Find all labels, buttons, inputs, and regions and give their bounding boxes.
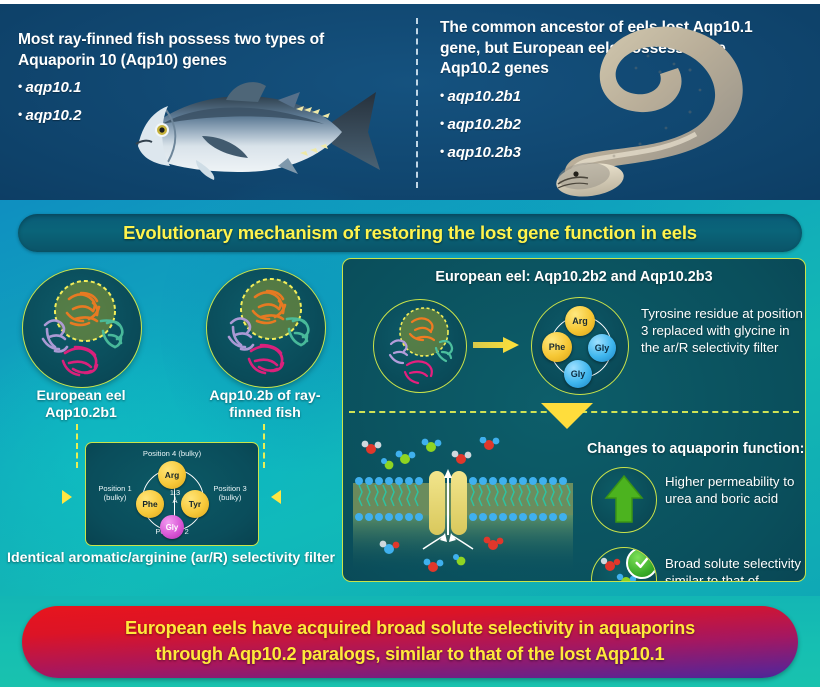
section-title-text: Evolutionary mechanism of restoring the …: [123, 222, 697, 244]
european-eel-illustration: [540, 12, 818, 200]
structure-caption-2: Aqp10.2b of ray-finned fish: [190, 388, 340, 422]
higher-permeability-icon-circle: [591, 467, 657, 533]
residue-arg: Arg: [565, 306, 595, 336]
infographic-figure: Most ray-finned fish possess two types o…: [0, 0, 820, 687]
residue-gly-position-2: Gly: [564, 360, 592, 388]
panel-a-heading: Most ray-finned fish possess two types o…: [18, 30, 398, 71]
aquaporin-tetramer-structure: [23, 269, 141, 387]
change-text-selectivity: Broad solute selectivity similar to that…: [665, 555, 805, 582]
green-up-arrow-icon: [592, 468, 656, 532]
residue-arg: Arg: [158, 461, 186, 489]
conclusion-line-2: through Aqp10.2 paralogs, similar to tha…: [156, 644, 665, 664]
green-check-icon: [626, 547, 657, 579]
conclusion-text: European eels have acquired broad solute…: [125, 616, 695, 668]
arrow-left-icon: [271, 490, 281, 504]
panel-divider: [416, 18, 418, 188]
residue-gly-position-3: Gly: [588, 334, 616, 362]
connector-dashed-line: [263, 424, 265, 468]
connector-dashed-line: [76, 424, 78, 468]
residue-phe: Phe: [542, 332, 572, 362]
distance-unit: Å: [173, 496, 178, 505]
check-glyph: [633, 554, 651, 572]
aquaporin-tetramer-structure: [207, 269, 325, 387]
structure-circle-eel-aqp102b1: [22, 268, 142, 388]
aquaporin-tetramer-structure: [374, 300, 466, 392]
residue-gly: Gly: [160, 515, 184, 539]
conclusion-line-1: European eels have acquired broad solute…: [125, 618, 695, 638]
tuna-fish-illustration: [118, 74, 383, 194]
position-3-label: Position 3 (bulky): [206, 485, 254, 502]
membrane-illustration: [353, 437, 573, 573]
position-4-label: Position 4 (bulky): [86, 450, 258, 459]
residue-phe: Phe: [136, 490, 164, 518]
structure-circle-rayfinned-aqp102b: [206, 268, 326, 388]
aquaporin-channel-in-lipid-bilayer: [353, 437, 573, 573]
top-band: Most ray-finned fish possess two types o…: [0, 4, 820, 200]
mutation-note: Tyrosine residue at position 3 replaced …: [641, 305, 803, 356]
eel-mechanism-box: European eel: Aqp10.2b2 and Aqp10.2b3: [342, 258, 806, 582]
structure-circle-eel-aqp102b2b3: [373, 299, 467, 393]
arrow-right-icon: [62, 490, 72, 504]
selectivity-filter-diagram: Position 4 (bulky) Position 1 (bulky) Po…: [85, 442, 259, 546]
right-box-title: European eel: Aqp10.2b2 and Aqp10.2b3: [343, 269, 805, 285]
residue-tyr: Tyr: [181, 490, 209, 518]
changes-title: Changes to aquaporin function:: [587, 441, 805, 457]
conclusion-banner: European eels have acquired broad solute…: [22, 606, 798, 678]
filter-caption: Identical aromatic/arginine (ar/R) selec…: [6, 550, 336, 567]
arrow-down-icon: [541, 403, 593, 429]
change-text-permeability: Higher permeability to urea and boric ac…: [665, 473, 805, 507]
structure-caption-1: European eel Aqp10.2b1: [6, 388, 156, 422]
mutated-selectivity-filter: Arg Phe Gly Gly: [531, 297, 629, 395]
arrow-right-icon: [473, 337, 519, 353]
section-title-banner: Evolutionary mechanism of restoring the …: [18, 214, 802, 252]
broad-selectivity-icon-circle: [591, 547, 657, 582]
position-1-label: Position 1 (bulky): [92, 485, 138, 502]
